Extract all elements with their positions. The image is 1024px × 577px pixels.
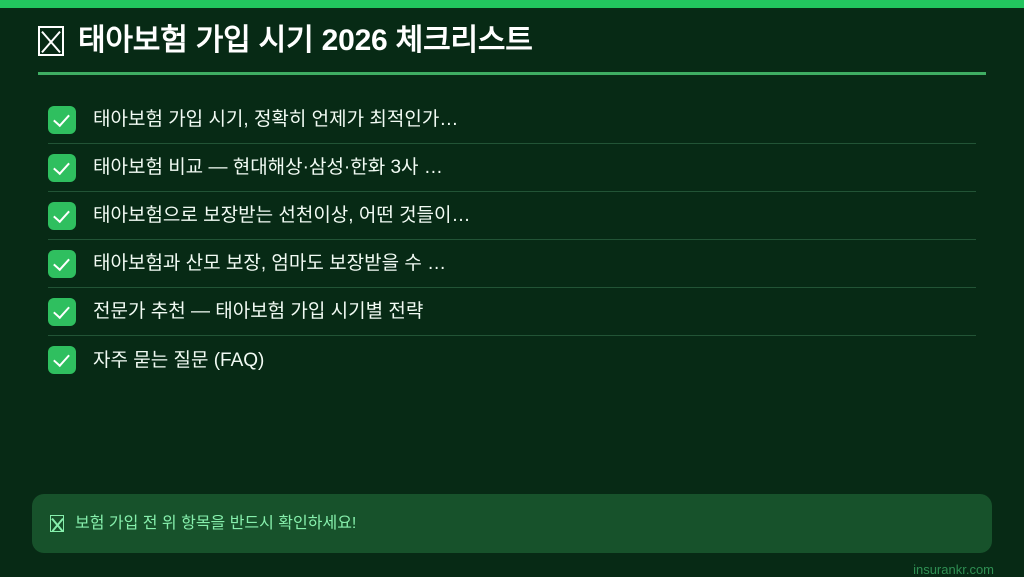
check-icon[interactable]: [48, 250, 76, 278]
list-item[interactable]: 태아보험 가입 시기, 정확히 언제가 최적인가…: [48, 96, 976, 144]
page-title-text: 태아보험 가입 시기 2026 체크리스트: [78, 26, 533, 56]
list-item-label: 태아보험으로 보장받는 선천이상, 어떤 것들이…: [93, 206, 471, 225]
top-accent-bar: [0, 0, 1024, 8]
list-item[interactable]: 전문가 추천 — 태아보험 가입 시기별 전략: [48, 288, 976, 336]
check-icon[interactable]: [48, 106, 76, 134]
missing-glyph-icon: [50, 515, 64, 532]
check-icon[interactable]: [48, 346, 76, 374]
check-icon[interactable]: [48, 154, 76, 182]
check-icon[interactable]: [48, 298, 76, 326]
missing-glyph-icon: [38, 26, 64, 56]
list-item[interactable]: 자주 묻는 질문 (FAQ): [48, 336, 976, 384]
check-icon[interactable]: [48, 202, 76, 230]
list-item-label: 태아보험 비교 — 현대해상·삼성·한화 3사 …: [93, 158, 443, 177]
list-item-label: 태아보험과 산모 보장, 엄마도 보장받을 수 …: [93, 254, 446, 273]
list-item[interactable]: 태아보험과 산모 보장, 엄마도 보장받을 수 …: [48, 240, 976, 288]
list-item-label: 태아보험 가입 시기, 정확히 언제가 최적인가…: [93, 110, 458, 129]
notice-banner-text: 보험 가입 전 위 항목을 반드시 확인하세요!: [75, 516, 356, 532]
list-item-label: 전문가 추천 — 태아보험 가입 시기별 전략: [93, 302, 423, 321]
watermark: insurankr.com: [913, 563, 994, 576]
page-title: 태아보험 가입 시기 2026 체크리스트: [38, 26, 533, 56]
checklist: 태아보험 가입 시기, 정확히 언제가 최적인가… 태아보험 비교 — 현대해상…: [48, 96, 976, 384]
list-item[interactable]: 태아보험으로 보장받는 선천이상, 어떤 것들이…: [48, 192, 976, 240]
notice-banner: 보험 가입 전 위 항목을 반드시 확인하세요!: [32, 494, 992, 553]
title-divider: [38, 72, 986, 75]
list-item[interactable]: 태아보험 비교 — 현대해상·삼성·한화 3사 …: [48, 144, 976, 192]
list-item-label: 자주 묻는 질문 (FAQ): [93, 351, 264, 370]
